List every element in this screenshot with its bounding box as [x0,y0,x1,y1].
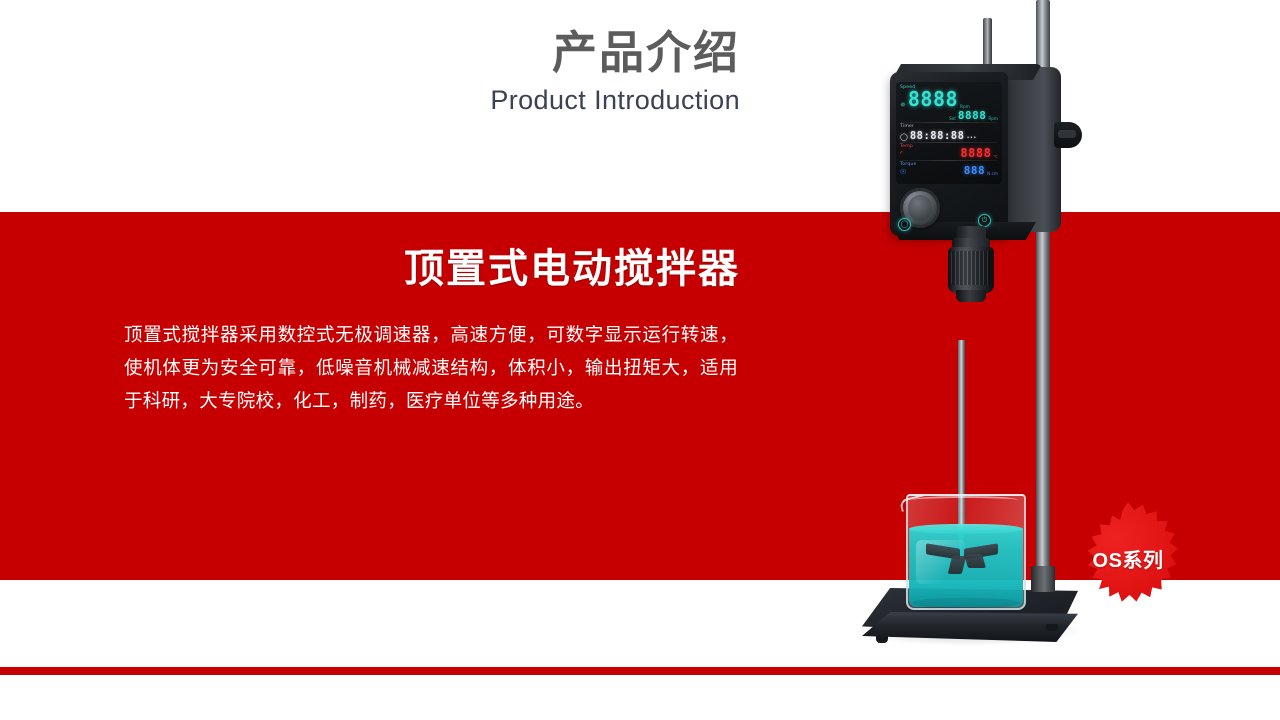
page-title-en: Product Introduction [0,84,740,118]
speed-set-unit: Rpm [988,116,998,121]
temperature-unit: ℃ [993,154,998,159]
timer-suffix: ... [966,129,976,141]
base-foot [876,636,888,643]
speed-set-label: Set [949,116,956,121]
clock-icon: ◯ [900,134,908,141]
torque-display-row: Torque ☉ 888 N.cm [900,162,998,176]
liquid-surface [909,524,1023,534]
keyless-chuck [948,247,994,293]
thermometer-icon: ⌜ [900,152,903,159]
speed-display-row: Speed ✵ 8888 Rpm Set 8888 Rpm [900,85,998,121]
temperature-display-row: Temp ⌜ 8888 ℃ [900,144,998,159]
torque-value: 888 [964,165,985,176]
beaker-bottom [912,598,1020,608]
product-description: 顶置式搅拌器采用数控式无极调速器，高速方便，可数字显示运行转速，使机体更为安全可… [124,318,738,417]
slide-header: 产品介绍 Product Introduction [0,28,740,118]
chuck-nose [956,290,986,302]
timer-display-row: Timer ◯ 88:88:88 ... [900,124,998,141]
torque-unit: N.cm [987,171,998,176]
panel-divider [900,122,998,123]
product-heading: 顶置式电动搅拌器 [0,236,740,294]
control-display-panel: Speed ✵ 8888 Rpm Set 8888 Rpm Timer ◯ [896,82,1002,184]
overhead-stirrer-illustration: Speed ✵ 8888 Rpm Set 8888 Rpm Timer ◯ [840,0,1140,680]
control-area: ◯ ⏻ [896,186,1002,234]
bottom-accent-bar [0,667,1280,675]
beaker-rim-highlight [912,496,1018,504]
torque-icon: ☉ [900,169,906,176]
panel-divider [900,142,998,143]
impeller-blade [964,554,986,568]
timer-value: 88:88:88 [910,131,965,142]
panel-divider [900,160,998,161]
clamp-knob[interactable] [1054,122,1082,148]
clock-icon[interactable]: ◯ [898,218,911,231]
page-title-cn: 产品介绍 [0,28,740,78]
base-foot [1046,624,1058,631]
temperature-label: Temp [900,144,913,149]
speed-set-value: 8888 [958,110,987,121]
speed-value: 8888 [908,89,958,109]
impeller-blades [926,538,998,572]
temperature-value: 8888 [960,147,991,159]
impeller-blade [948,556,966,574]
stand-rod-collar [1031,566,1055,592]
slide-canvas: 产品介绍 Product Introduction 顶置式电动搅拌器 顶置式搅拌… [0,0,1280,720]
fan-icon: ✵ [900,102,906,109]
